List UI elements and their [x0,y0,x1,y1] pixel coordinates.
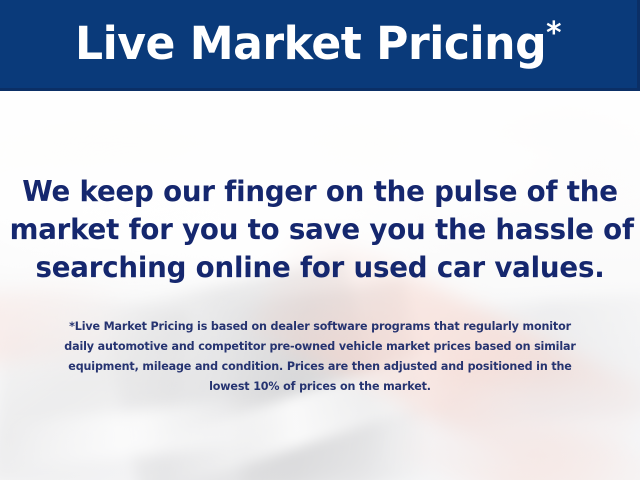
headline-line-1: We keep our finger on the pulse of the [10,173,631,211]
disclaimer-line-2: daily automotive and competitor pre-owne… [13,336,627,356]
header-band: Live Market Pricing* [0,0,640,91]
headline: We keep our finger on the pulse of the m… [10,173,631,287]
title-asterisk: * [547,16,562,51]
page-title: Live Market Pricing* [75,21,561,68]
disclaimer-line-1: *Live Market Pricing is based on dealer … [13,316,627,336]
live-market-pricing-banner: Live Market Pricing* We keep our finger … [0,0,640,480]
disclaimer-line-4: lowest 10% of prices on the market. [13,376,627,396]
page-title-text: Live Market Pricing [75,17,546,70]
headline-line-2: market for you to save you the hassle of [10,211,631,249]
disclaimer-line-3: equipment, mileage and condition. Prices… [13,356,627,376]
disclaimer: *Live Market Pricing is based on dealer … [13,316,627,396]
headline-line-3: searching online for used car values. [10,249,631,287]
